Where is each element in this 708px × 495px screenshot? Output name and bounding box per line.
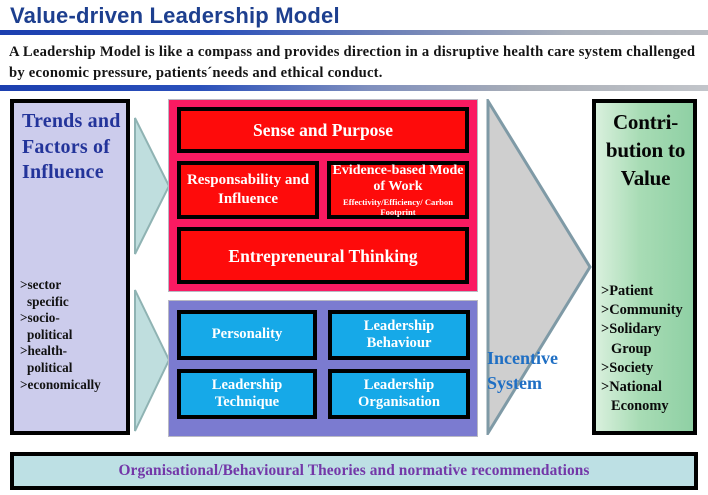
diagram-canvas: Value-driven Leadership Model A Leadersh… [0,0,708,495]
title-divider [0,30,708,35]
trends-and-factors-panel: Trends and Factors of Influence >sector … [10,99,130,435]
foundation-bar: Organisational/Behavioural Theories and … [10,452,698,490]
contribution-to-value-panel: Contri- bution to Value >Patient >Commun… [592,99,697,435]
box-leadership-technique: Leadership Technique [177,369,317,419]
leadership-group-container: Personality Leadership Behaviour Leaders… [168,300,478,437]
list-item: >Community [601,301,699,320]
box-personality: Personality [177,310,317,360]
left-panel-heading: Trends and Factors of Influence [22,109,130,186]
box-leadership-organisation: Leadership Organisation [328,369,470,419]
values-group-container: Sense and Purpose Responsability and Inf… [168,99,478,292]
right-panel-list: >Patient >Community >Solidary Group >Soc… [601,282,699,416]
incentive-system-label: Incentive System [487,346,583,396]
list-item: specific [20,294,132,311]
triangle-right-arrow-icon-upper [133,116,171,256]
list-item: >Solidary [601,320,699,339]
subtitle-divider [0,85,708,91]
list-item: >Patient [601,282,699,301]
triangle-right-arrow-icon-lower [133,288,171,433]
list-item: >sector [20,277,132,294]
right-panel-heading: Contri- bution to Value [598,108,693,192]
left-panel-list: >sector specific >socio- political >heal… [20,277,132,393]
list-item: >socio- [20,310,132,327]
list-item: Economy [601,397,699,416]
box-sublabel: Effectivity/Efficiency/ Carbon Footprint [331,197,465,218]
list-item: >economically [20,377,132,394]
list-item: >National [601,378,699,397]
incentive-system-arrow: Incentive System [486,99,596,435]
list-item: >health- [20,343,132,360]
list-item: political [20,360,132,377]
box-leadership-behaviour: Leadership Behaviour [328,310,470,360]
foundation-bar-label: Organisational/Behavioural Theories and … [118,462,589,480]
page-title: Value-driven Leadership Model [10,1,610,31]
subtitle-text: A Leadership Model is like a compass and… [9,42,699,84]
box-responsability-and-influence: Responsability and Influence [177,161,319,219]
list-item: >Society [601,359,699,378]
box-evidence-based-mode-of-work: Evidence-based Mode of Work Effectivity/… [327,161,469,219]
list-item: political [20,327,132,344]
box-sense-and-purpose: Sense and Purpose [177,107,469,153]
box-label: Evidence-based Mode of Work [331,163,465,195]
list-item: Group [601,340,699,359]
box-entrepreneural-thinking: Entrepreneural Thinking [177,227,469,284]
